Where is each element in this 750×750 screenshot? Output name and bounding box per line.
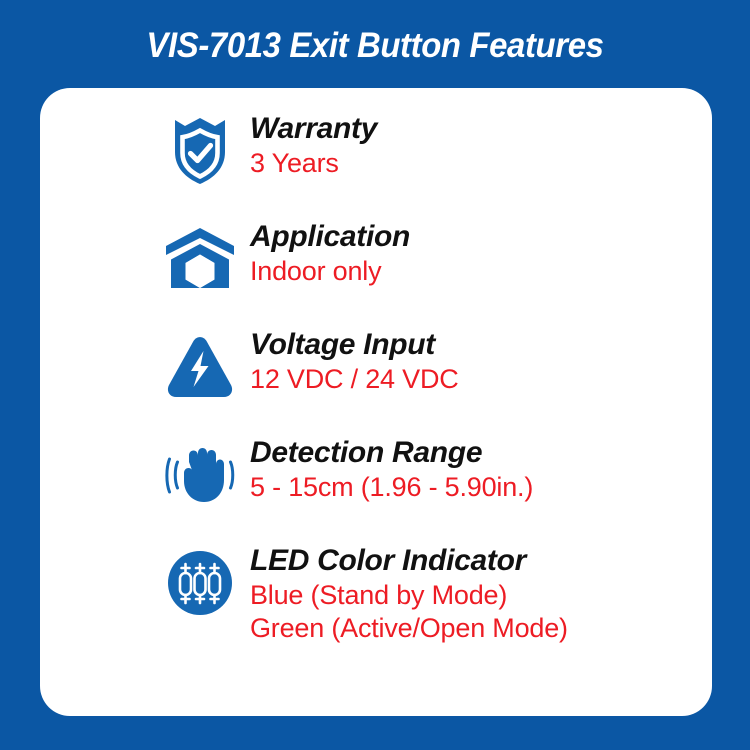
- features-card: Warranty 3 Years Application Indoor only: [40, 88, 712, 716]
- feature-text-voltage-input: Voltage Input 12 VDC / 24 VDC: [250, 326, 459, 396]
- lightning-triangle-icon: [164, 326, 236, 402]
- feature-value: 12 VDC / 24 VDC: [250, 362, 459, 397]
- feature-row-application: Application Indoor only: [40, 218, 712, 314]
- feature-text-led-color-indicator: LED Color Indicator Blue (Stand by Mode)…: [250, 542, 568, 646]
- feature-poster: VIS-7013 Exit Button Features Warranty 3…: [0, 0, 750, 750]
- feature-title: Application: [250, 220, 410, 254]
- house-hexagon-icon: [164, 218, 236, 294]
- feature-value: 5 - 15cm (1.96 - 5.90in.): [250, 470, 533, 505]
- feature-text-application: Application Indoor only: [250, 218, 410, 288]
- feature-row-voltage-input: Voltage Input 12 VDC / 24 VDC: [40, 326, 712, 422]
- feature-value: Indoor only: [250, 254, 410, 289]
- feature-row-led-color-indicator: LED Color Indicator Blue (Stand by Mode)…: [40, 542, 712, 646]
- page-title: VIS-7013 Exit Button Features: [23, 26, 728, 66]
- feature-text-warranty: Warranty 3 Years: [250, 110, 377, 180]
- feature-title: Voltage Input: [250, 328, 459, 362]
- feature-title: Detection Range: [250, 436, 533, 470]
- feature-text-detection-range: Detection Range 5 - 15cm (1.96 - 5.90in.…: [250, 434, 533, 504]
- feature-value: Blue (Stand by Mode): [250, 578, 568, 613]
- feature-row-warranty: Warranty 3 Years: [40, 110, 712, 206]
- feature-title: LED Color Indicator: [250, 544, 568, 578]
- shield-check-icon: [164, 110, 236, 186]
- led-lights-circle-icon: [164, 542, 236, 618]
- feature-row-detection-range: Detection Range 5 - 15cm (1.96 - 5.90in.…: [40, 434, 712, 530]
- feature-value: 3 Years: [250, 146, 377, 181]
- feature-title: Warranty: [250, 112, 377, 146]
- feature-value: Green (Active/Open Mode): [250, 611, 568, 646]
- hand-wave-icon: [164, 434, 236, 510]
- feature-list: Warranty 3 Years Application Indoor only: [40, 110, 712, 646]
